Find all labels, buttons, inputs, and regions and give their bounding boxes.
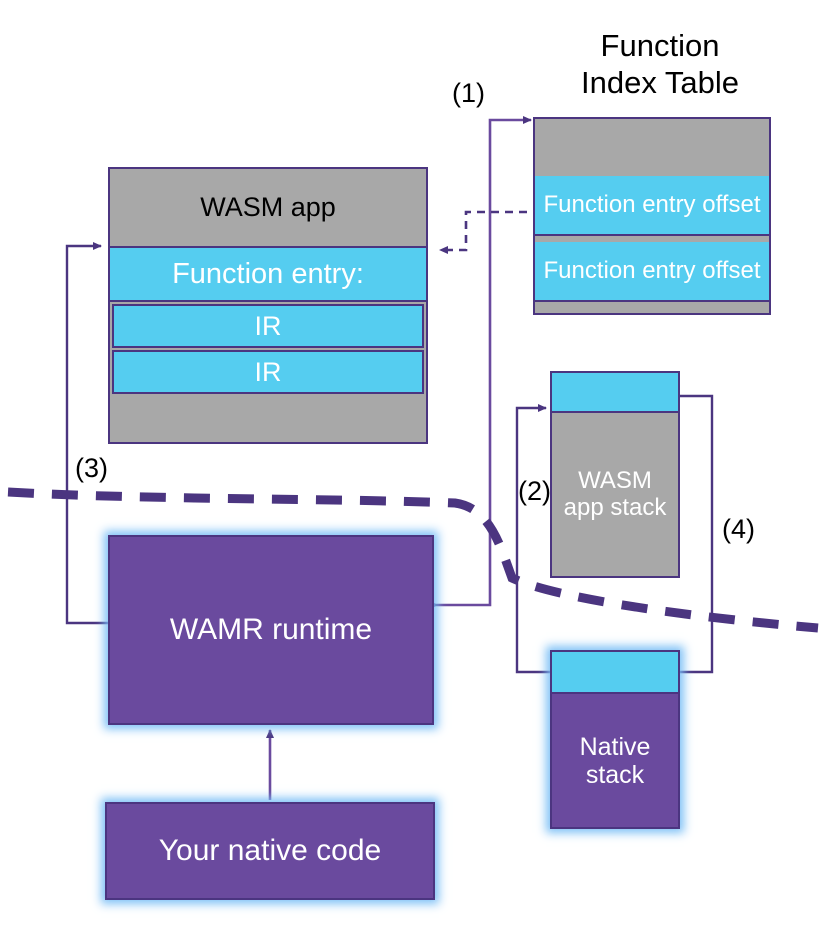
fit-row-empty <box>535 119 769 176</box>
wasm-app-footer <box>110 396 426 442</box>
step-label-3: (3) <box>75 455 108 482</box>
wasm-app-stack-top <box>550 371 680 413</box>
wasm-app-row-ir-2-label: IR <box>255 357 282 387</box>
fit-divider-2 <box>535 300 769 309</box>
connector-step-1 <box>420 120 531 611</box>
native-stack-body: Native stack <box>550 692 680 829</box>
native-stack: Native stack <box>550 650 680 829</box>
wasm-app-stack-label: WASM app stack <box>564 468 667 522</box>
wasm-app-stack: WASM app stack <box>550 371 680 578</box>
wasm-app-stack-body: WASM app stack <box>550 411 680 578</box>
wasm-app-row-function-entry-label: Function entry: <box>172 258 364 290</box>
fit-row-offset-2-label: Function entry offset <box>543 258 760 285</box>
wasm-app-row-function-entry[interactable]: Function entry: <box>110 246 426 302</box>
wasm-app-row-ir-1[interactable]: IR <box>112 304 424 348</box>
native-code-label: Your native code <box>159 834 381 868</box>
wamr-runtime-box[interactable]: WAMR runtime <box>108 535 434 725</box>
function-index-table-title: Function Index Table <box>525 28 795 101</box>
wasm-app-box: WASM app Function entry: IR IR <box>108 167 428 444</box>
function-index-table: Function entry offset Function entry off… <box>533 117 771 315</box>
step-label-1: (1) <box>452 80 485 107</box>
wasm-app-row-ir-2[interactable]: IR <box>112 350 424 394</box>
diagram-canvas: Function Index Table Function entry offs… <box>0 0 819 925</box>
step-label-2: (2) <box>518 478 551 505</box>
native-stack-top <box>550 650 680 694</box>
native-stack-label: Native stack <box>580 733 651 789</box>
native-code-box[interactable]: Your native code <box>105 802 435 900</box>
step-label-4: (4) <box>722 516 755 543</box>
wamr-runtime-label: WAMR runtime <box>170 613 372 647</box>
fit-row-offset-2: Function entry offset <box>535 242 769 300</box>
fit-row-offset-1-label: Function entry offset <box>543 192 760 219</box>
wasm-app-header-label: WASM app <box>200 192 336 222</box>
fit-row-offset-1: Function entry offset <box>535 176 769 234</box>
wasm-app-row-ir-1-label: IR <box>255 311 282 341</box>
connector-step-3 <box>67 246 108 623</box>
wasm-app-header: WASM app <box>110 169 426 246</box>
